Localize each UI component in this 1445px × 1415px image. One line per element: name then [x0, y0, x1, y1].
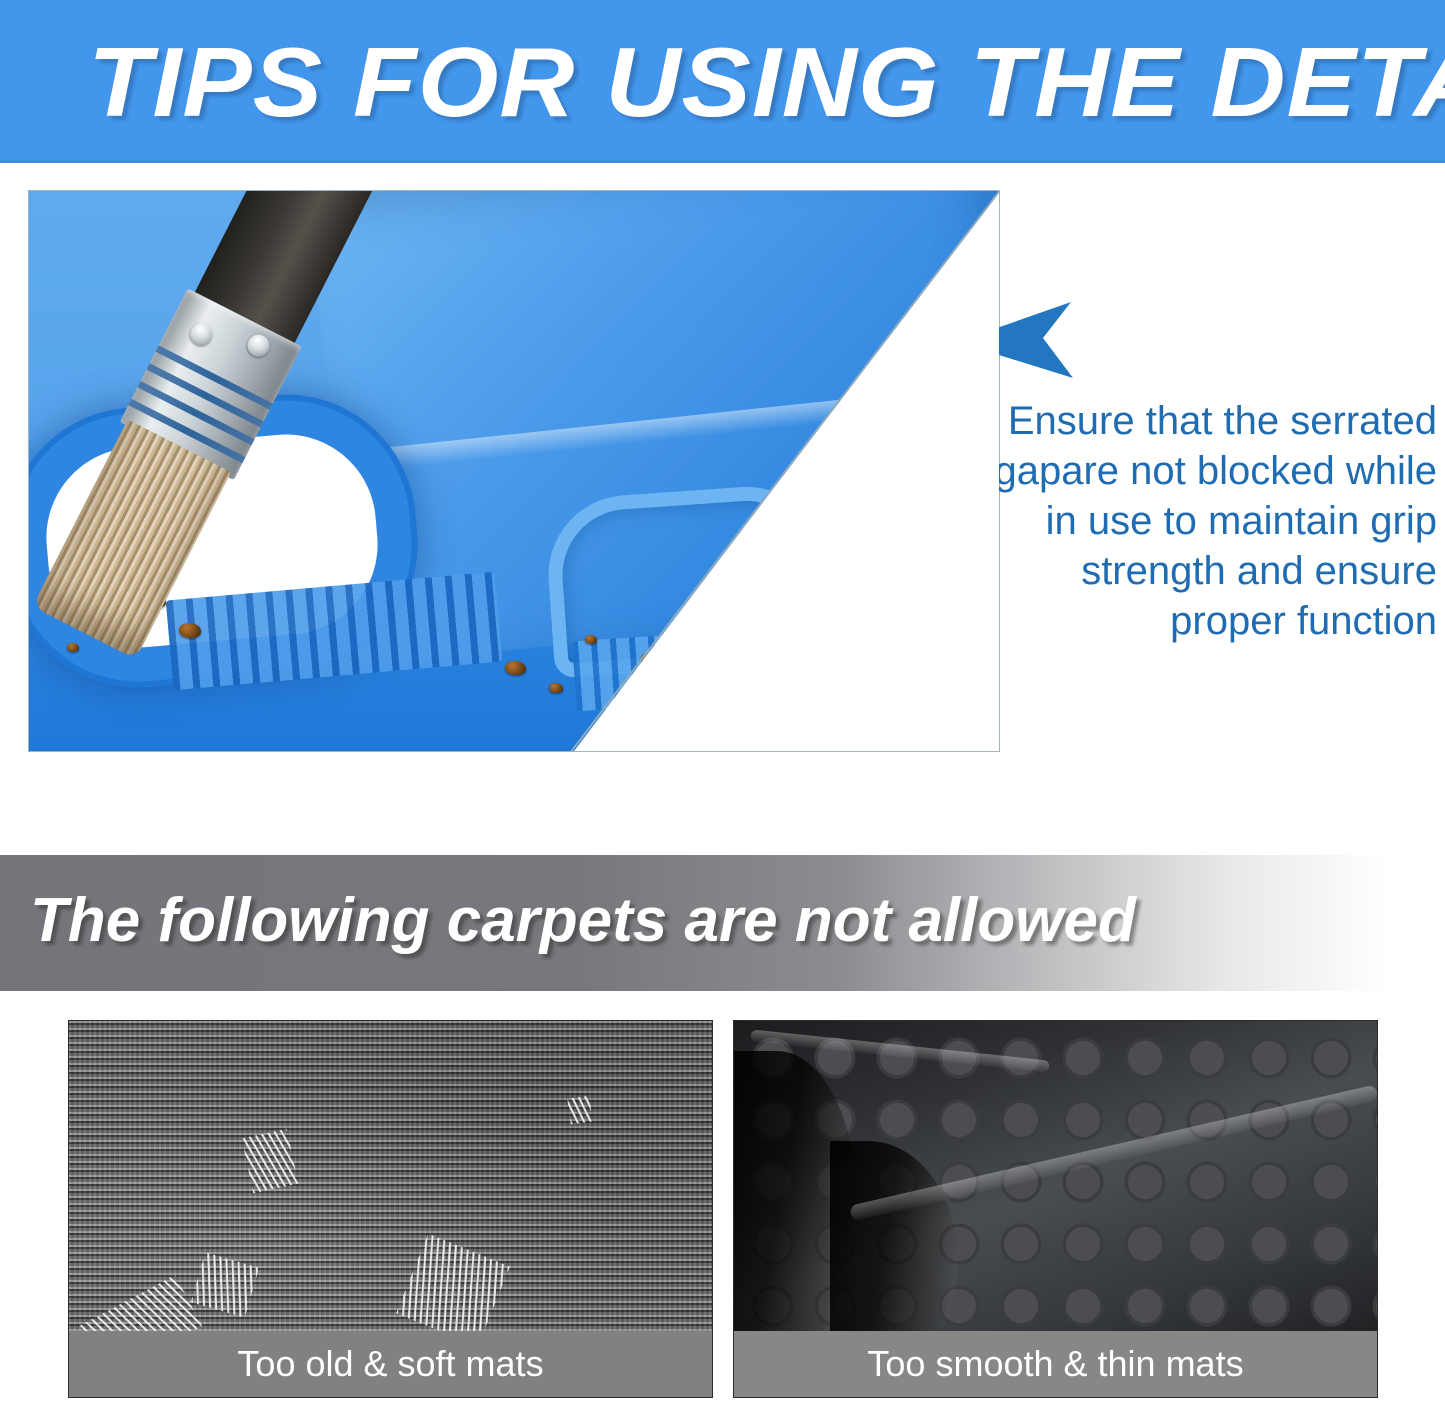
callout-text: Ensure that the serrated gapare not bloc… — [955, 396, 1437, 646]
mat-caption: Too smooth & thin mats — [734, 1331, 1377, 1397]
dirt-speck — [179, 623, 201, 638]
mat-card-smooth-thin: Too smooth & thin mats — [733, 1020, 1378, 1398]
tips-header-banner: TIPS FOR USING THE DETAILS — [0, 0, 1445, 163]
dirt-speck — [505, 661, 526, 675]
carpets-banner-title: The following carpets are not allowed — [30, 881, 1136, 961]
tips-header-title: TIPS FOR USING THE DETAILS — [88, 18, 1445, 146]
detail-product-photo — [28, 190, 1000, 752]
carpet-photo — [69, 1021, 712, 1333]
carpets-banner: The following carpets are not allowed — [0, 855, 1445, 991]
brush-rivet — [187, 320, 217, 350]
brush-rivet — [244, 331, 274, 361]
mat-caption: Too old & soft mats — [69, 1331, 712, 1397]
dirt-speck — [67, 643, 79, 652]
dirt-speck — [585, 635, 597, 644]
mat-card-old-soft: Too old & soft mats — [68, 1020, 713, 1398]
dirt-speck — [549, 683, 563, 693]
carpet-fray — [567, 1096, 592, 1125]
rubber-mat-photo — [734, 1021, 1377, 1333]
